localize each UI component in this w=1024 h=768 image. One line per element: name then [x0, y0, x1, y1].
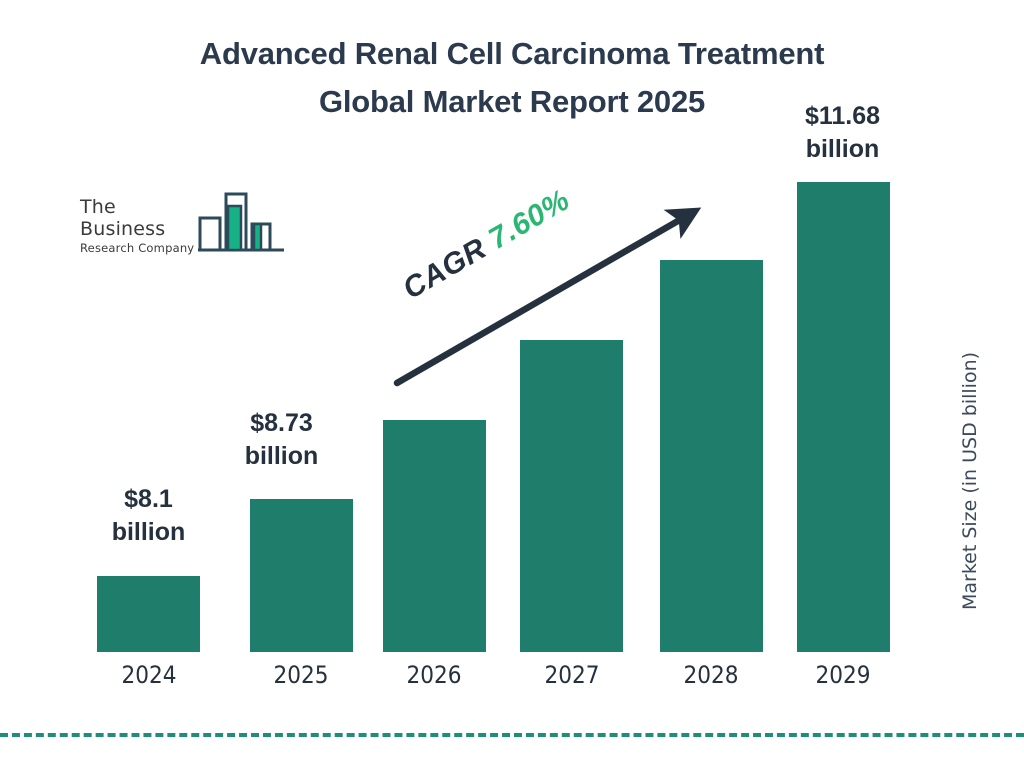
- value-label-2029-unit: billion: [760, 133, 925, 166]
- x-axis-label-2026: 2026: [364, 661, 504, 689]
- bar-chart-plot: $8.1 billion $8.73 billion $11.68 billio…: [0, 0, 1024, 768]
- footer-divider: [0, 733, 1024, 737]
- bar-2026: [383, 420, 486, 652]
- value-label-2029-amount: $11.68: [760, 100, 925, 133]
- value-label-2025: $8.73 billion: [199, 407, 364, 473]
- value-label-2025-amount: $8.73: [199, 407, 364, 440]
- bar-2029: [797, 182, 890, 652]
- x-axis-label-2027: 2027: [502, 661, 642, 689]
- y-axis-title: Market Size (in USD billion): [959, 331, 981, 631]
- x-axis-label-2024: 2024: [79, 661, 219, 689]
- bar-2024: [97, 576, 200, 652]
- x-axis-label-2025: 2025: [231, 661, 371, 689]
- chart-canvas: Advanced Renal Cell Carcinoma Treatment …: [0, 0, 1024, 768]
- value-label-2025-unit: billion: [199, 440, 364, 473]
- value-label-2024: $8.1 billion: [66, 483, 231, 549]
- x-axis-label-2029: 2029: [773, 661, 913, 689]
- bar-2025: [250, 499, 353, 652]
- x-axis-label-2028: 2028: [641, 661, 781, 689]
- value-label-2024-amount: $8.1: [66, 483, 231, 516]
- value-label-2029: $11.68 billion: [760, 100, 925, 166]
- value-label-2024-unit: billion: [66, 516, 231, 549]
